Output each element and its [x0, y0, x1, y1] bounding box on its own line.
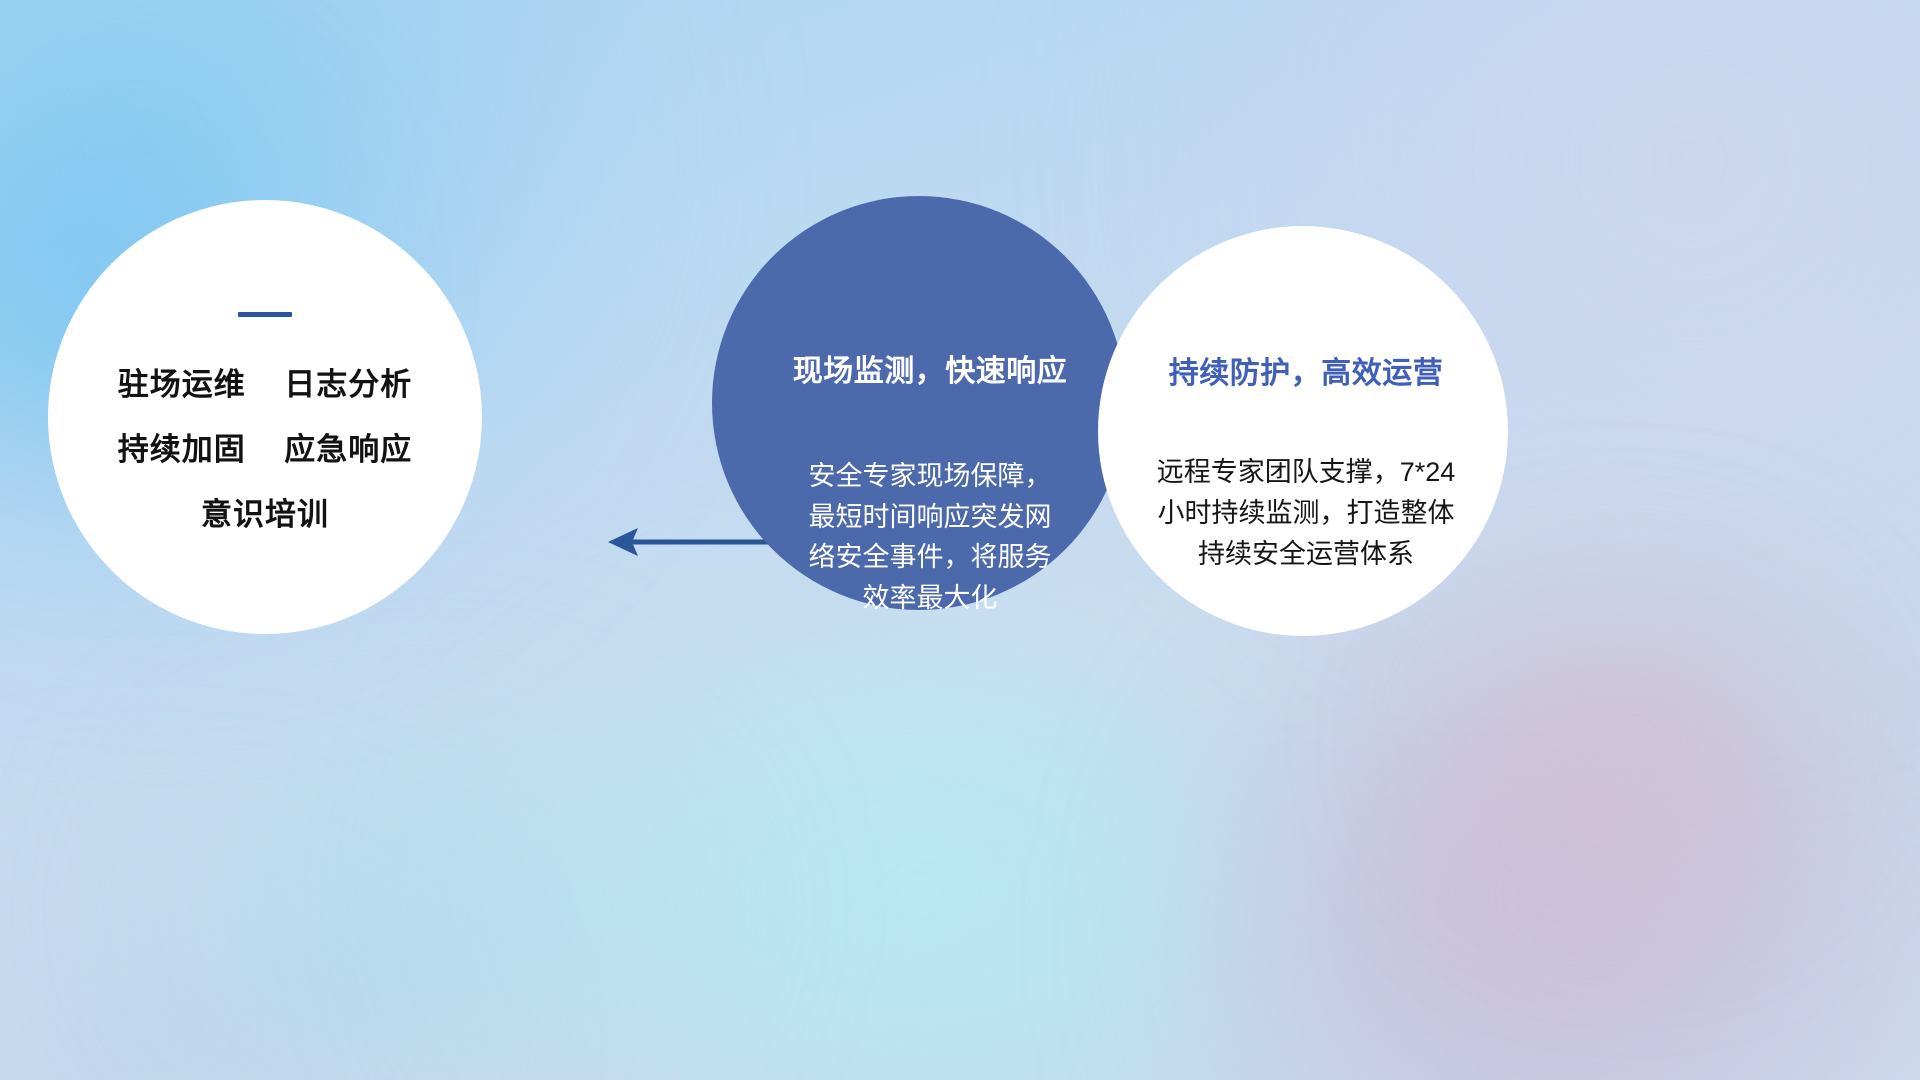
middle-circle-body-line-2: 最短时间响应突发网 — [742, 497, 1118, 538]
right-circle-body-line-3: 持续安全运营体系 — [1116, 534, 1496, 575]
middle-circle-body-line-4: 效率最大化 — [742, 578, 1118, 619]
left-circle-line-3: 意识培训 — [48, 499, 482, 530]
right-circle-content: 持续防护，高效运营 远程专家团队支撑，7*24 小时持续监测，打造整体 持续安全… — [1116, 348, 1496, 575]
right-circle-title: 持续防护，高效运营 — [1116, 348, 1496, 392]
middle-circle-body-line-3: 络安全事件，将服务 — [742, 537, 1118, 578]
middle-circle-body: 安全专家现场保障， 最短时间响应突发网 络安全事件，将服务 效率最大化 — [742, 456, 1118, 618]
left-capability-circle[interactable]: 驻场运维 日志分析 持续加固 应急响应 意识培训 — [48, 200, 482, 634]
right-circle-body-line-1: 远程专家团队支撑，7*24 — [1116, 452, 1496, 493]
left-circle-content: 驻场运维 日志分析 持续加固 应急响应 意识培训 — [48, 312, 482, 530]
slide-canvas: 驻场运维 日志分析 持续加固 应急响应 意识培训 现场监测，快速响应 安全专家现… — [0, 0, 1920, 1080]
left-circle-line-2: 持续加固 应急响应 — [48, 434, 482, 465]
middle-circle-content: 现场监测，快速响应 安全专家现场保障， 最短时间响应突发网 络安全事件，将服务 … — [742, 346, 1118, 618]
divider-dash — [238, 312, 292, 317]
right-circle-body-line-2: 小时持续监测，打造整体 — [1116, 493, 1496, 534]
middle-circle-title: 现场监测，快速响应 — [742, 346, 1118, 390]
right-circle-body: 远程专家团队支撑，7*24 小时持续监测，打造整体 持续安全运营体系 — [1116, 452, 1496, 575]
middle-circle-body-line-1: 安全专家现场保障， — [742, 456, 1118, 497]
middle-circle-text-layer: 现场监测，快速响应 安全专家现场保障， 最短时间响应突发网 络安全事件，将服务 … — [712, 196, 1126, 610]
left-circle-line-1: 驻场运维 日志分析 — [48, 369, 482, 400]
right-circle-text-layer: 持续防护，高效运营 远程专家团队支撑，7*24 小时持续监测，打造整体 持续安全… — [1098, 226, 1508, 636]
